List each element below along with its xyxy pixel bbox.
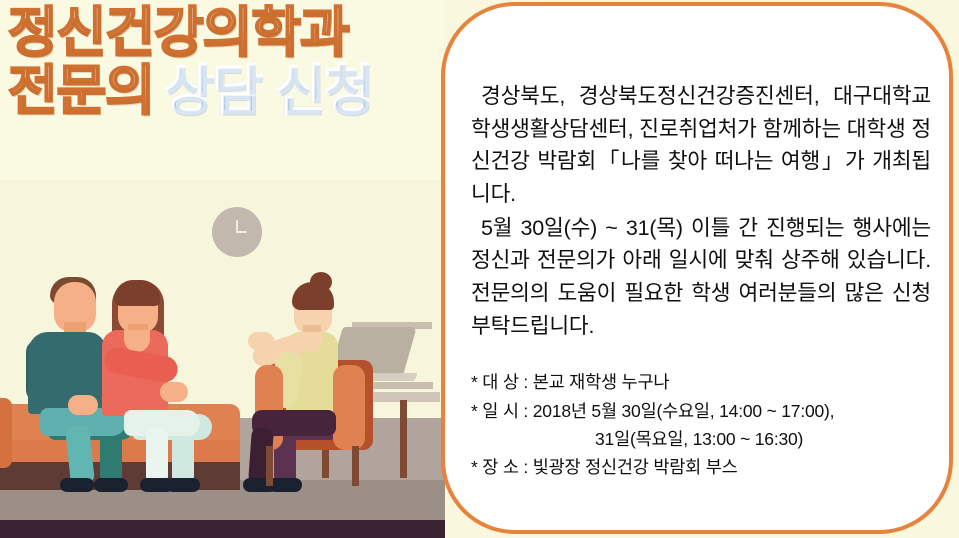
man-near-shoe: [60, 478, 94, 492]
detail-target-audience: * 대 상 : 본교 재학생 누구나: [471, 368, 931, 396]
title-line-2: 전문의상담 신청: [8, 64, 373, 118]
announcement-bubble: 경상북도, 경상북도정신건강증진센터, 대구대학교 학생생활상담센터, 진로취업…: [441, 2, 953, 534]
detail-datetime-day1: * 일 시 : 2018년 5월 30일(수요일, 14:00 ~ 17:00)…: [471, 397, 931, 425]
woman-hand: [160, 382, 188, 402]
event-details-list: * 대 상 : 본교 재학생 누구나 * 일 시 : 2018년 5월 30일(…: [471, 368, 931, 481]
floor-baseboard: [0, 520, 445, 538]
detail-location: * 장 소 : 빛광장 정신건강 박람회 부스: [471, 453, 931, 481]
desk-leg-right: [400, 400, 407, 478]
armchair-leg-right: [352, 446, 359, 486]
woman-near-shoe: [140, 478, 174, 492]
title-line-1: 정신건강의학과: [8, 6, 373, 60]
title-text-specialist: 전문의: [8, 64, 154, 118]
title-text-consultation-request: 상담 신청: [164, 64, 373, 118]
armchair-leg-left: [266, 446, 273, 486]
wall-clock-icon: [212, 207, 262, 257]
sofa-armrest: [0, 398, 12, 468]
man-far-shoe: [94, 478, 128, 492]
clock-minute-hand: [237, 231, 247, 233]
woman-far-shin: [172, 430, 194, 484]
armchair-arm-right: [333, 365, 365, 450]
woman-near-shin: [146, 428, 168, 484]
announcement-paragraph-2: 5월 30일(수) ~ 31(목) 이틀 간 진행되는 행사에는 정신과 전문의…: [471, 212, 931, 343]
poster-title: 정신건강의학과 전문의상담 신청: [8, 6, 373, 118]
title-text-department: 정신건강의학과: [8, 6, 349, 60]
poster-canvas: 정신건강의학과 전문의상담 신청 경상북도, 경상북도정신건강증진센터, 대구대…: [0, 0, 959, 538]
announcement-paragraph-1: 경상북도, 경상북도정신건강증진센터, 대구대학교 학생생활상담센터, 진로취업…: [471, 80, 931, 211]
man-hand: [68, 395, 98, 415]
detail-datetime-day2: 31일(목요일, 13:00 ~ 16:30): [471, 425, 931, 453]
counselor-hand: [248, 332, 274, 350]
woman-hair-front: [114, 280, 160, 306]
man-far-shin: [100, 430, 122, 484]
announcement-content: 경상북도, 경상북도정신건강증진센터, 대구대학교 학생생활상담센터, 진로취업…: [471, 80, 931, 482]
